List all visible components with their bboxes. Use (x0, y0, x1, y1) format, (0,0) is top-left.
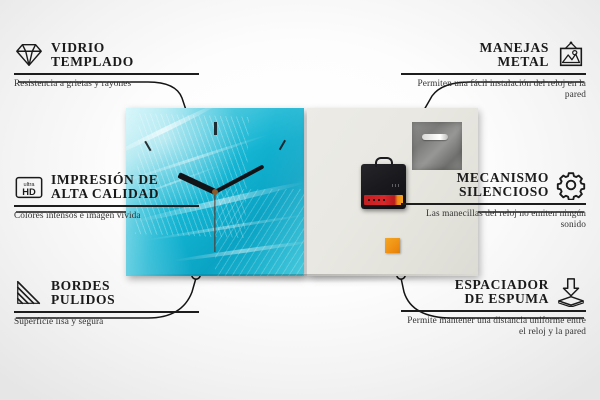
feature-bordes-pulidos: BORDES PULIDOS Superficie lisa y segura (14, 278, 199, 328)
diamond-icon (14, 40, 44, 70)
feature-header: ultra HD IMPRESIÓN DE ALTA CALIDAD (14, 172, 199, 202)
feature-title: VIDRIO TEMPLADO (51, 41, 134, 70)
ultra-hd-icon: ultra HD (14, 172, 44, 202)
divider (401, 73, 586, 75)
metal-hanger-plate (412, 122, 462, 170)
feature-description: Permiten una fácil instalación del reloj… (401, 79, 586, 102)
framed-picture-hanging-icon (556, 40, 586, 70)
divider (14, 73, 199, 75)
second-hand (214, 192, 215, 252)
hour-tick (286, 260, 304, 262)
feature-title: BORDES PULIDOS (51, 279, 115, 308)
feature-description: Resistencia a grietas y rayones (14, 79, 199, 90)
divider (401, 203, 586, 205)
feature-espaciador-espuma: ESPACIADOR DE ESPUMA Permite mantener un… (401, 277, 586, 338)
battery-compartment (364, 195, 403, 205)
clock-center-cap (212, 189, 218, 195)
feature-header: MECANISMO SILENCIOSO (401, 170, 586, 200)
feature-header: ESPACIADOR DE ESPUMA (401, 277, 586, 307)
hour-tick (126, 262, 146, 264)
down-arrow-pad-icon (556, 277, 586, 307)
hour-tick (214, 122, 216, 192)
feature-mecanismo-silencioso: MECANISMO SILENCIOSO Las manecillas del … (401, 170, 586, 231)
mechanism-hanging-loop (375, 157, 393, 167)
svg-text:HD: HD (22, 187, 36, 197)
hour-tick (276, 190, 304, 227)
feature-title: MANEJAS METAL (401, 41, 549, 70)
gear-icon (556, 170, 586, 200)
feature-manejas-metal: MANEJAS METAL Permiten una fácil instala… (401, 40, 586, 101)
feature-description: Colores intensos e imagen vívida (14, 211, 199, 222)
feature-description: Permite mantener una distancia uniforme … (401, 316, 586, 339)
mechanism-label (392, 184, 401, 187)
hanger-slot (422, 134, 448, 140)
feature-title: ESPACIADOR DE ESPUMA (401, 278, 549, 307)
feature-vidrio-templado: VIDRIO TEMPLADO Resistencia a grietas y … (14, 40, 199, 90)
feature-title: IMPRESIÓN DE ALTA CALIDAD (51, 173, 159, 202)
feature-title: MECANISMO SILENCIOSO (401, 171, 549, 200)
feature-header: VIDRIO TEMPLADO (14, 40, 199, 70)
foam-spacer (385, 238, 400, 253)
feature-description: Superficie lisa y segura (14, 317, 199, 328)
feature-header: BORDES PULIDOS (14, 278, 199, 308)
feature-description: Las manecillas del reloj no emiten ningú… (401, 209, 586, 232)
infographic-canvas: VIDRIO TEMPLADO Resistencia a grietas y … (0, 0, 600, 400)
silent-mechanism-box (361, 164, 406, 209)
polished-edges-icon (14, 278, 44, 308)
divider (401, 310, 586, 312)
divider (14, 311, 199, 313)
feature-header: MANEJAS METAL (401, 40, 586, 70)
divider (14, 205, 199, 207)
feature-impresion-alta-calidad: ultra HD IMPRESIÓN DE ALTA CALIDAD Color… (14, 172, 199, 222)
